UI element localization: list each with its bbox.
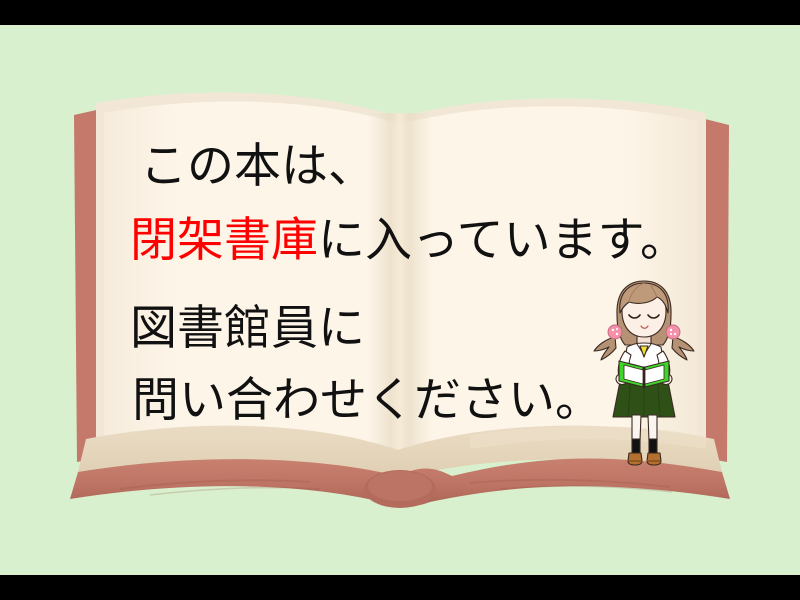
slide-background: この本は、 閉架書庫に入っています。 図書館員に 問い合わせください。 bbox=[0, 25, 800, 575]
pigtail-left bbox=[594, 337, 616, 360]
leg-right bbox=[648, 415, 657, 441]
letterbox-bar-top bbox=[0, 0, 800, 25]
girl-reading-illustration bbox=[591, 277, 697, 467]
leg-left bbox=[632, 415, 641, 441]
pigtail-right bbox=[672, 337, 694, 360]
sock-left bbox=[632, 439, 640, 454]
slide-canvas: この本は、 閉架書庫に入っています。 図書館員に 問い合わせください。 bbox=[0, 0, 800, 600]
shoe-right bbox=[647, 453, 661, 465]
hair-tie-right bbox=[666, 325, 680, 339]
shoe-left bbox=[628, 453, 642, 465]
hair-tie-left bbox=[608, 325, 622, 339]
left-page bbox=[104, 101, 399, 457]
letterbox-bar-bottom bbox=[0, 575, 800, 600]
sock-right bbox=[649, 439, 657, 454]
